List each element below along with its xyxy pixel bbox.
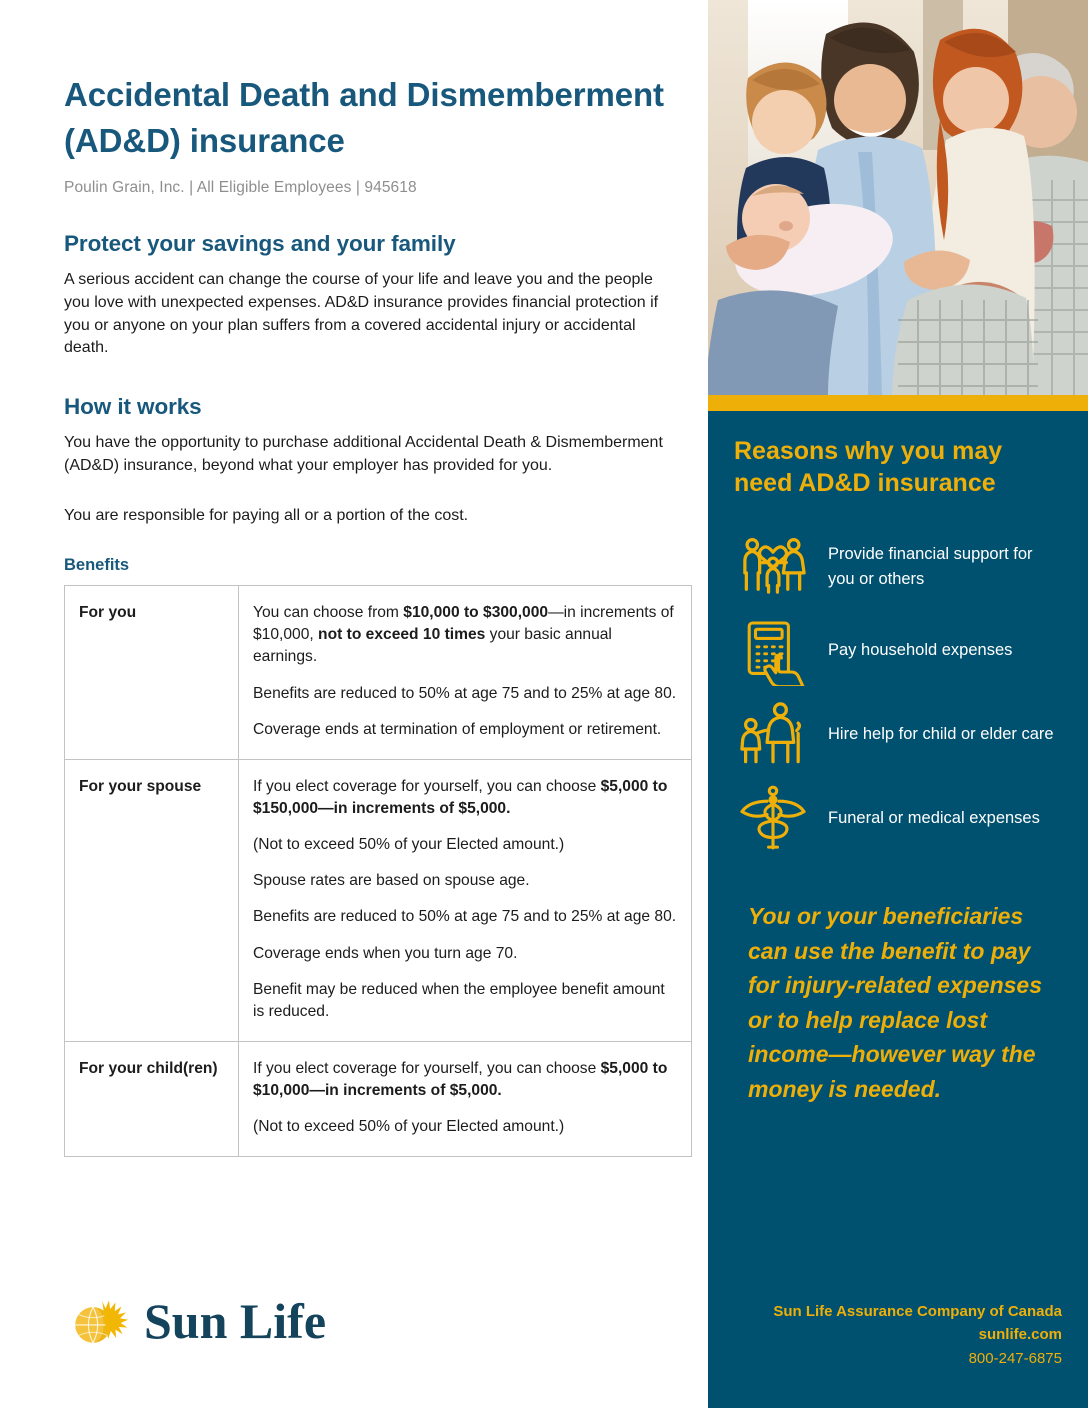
family-photo-illustration [708, 0, 1088, 395]
benefit-row-label: For you [65, 586, 239, 760]
reason-label: Funeral or medical expenses [828, 806, 1040, 831]
family-photo [708, 0, 1088, 395]
child-elder-care-icon [734, 697, 812, 773]
sun-life-wordmark: Sun Life [144, 1296, 326, 1346]
benefit-paragraph: If you elect coverage for yourself, you … [253, 1058, 677, 1102]
reason-item: Hire help for child or elder care [734, 697, 1062, 773]
reason-item: Provide financial support for you or oth… [734, 529, 1062, 605]
sun-life-logo: Sun Life [64, 1288, 326, 1354]
benefit-paragraph: Benefits are reduced to 50% at age 75 an… [253, 906, 677, 928]
table-row: For your child(ren)If you elect coverage… [65, 1041, 692, 1156]
sidebar-footer: Sun Life Assurance Company of Canada sun… [708, 1300, 1062, 1370]
document-page: Accidental Death and Dismemberment (AD&D… [0, 0, 1088, 1408]
gold-divider-bar [708, 395, 1088, 411]
reason-label: Hire help for child or elder care [828, 722, 1054, 747]
benefit-paragraph: If you elect coverage for yourself, you … [253, 776, 677, 820]
sidebar-panel: Reasons why you may need AD&D insurance … [708, 0, 1088, 1408]
benefit-paragraph: Benefits are reduced to 50% at age 75 an… [253, 683, 677, 705]
how-it-works-paragraph-1: You have the opportunity to purchase add… [64, 432, 676, 477]
benefits-table: For youYou can choose from $10,000 to $3… [64, 585, 692, 1157]
reasons-list: Provide financial support for you or oth… [734, 529, 1062, 857]
document-subtitle: Poulin Grain, Inc. | All Eligible Employ… [64, 179, 680, 197]
benefit-paragraph: Benefit may be reduced when the employee… [253, 979, 677, 1023]
benefit-row-label: For your child(ren) [65, 1041, 239, 1156]
benefit-row-detail: You can choose from $10,000 to $300,000—… [239, 586, 692, 760]
footer-company: Sun Life Assurance Company of Canada [708, 1300, 1062, 1323]
caduceus-medical-icon [734, 781, 812, 857]
benefits-heading: Benefits [64, 556, 680, 575]
main-content-column: Accidental Death and Dismemberment (AD&D… [0, 0, 708, 1408]
benefit-paragraph: Coverage ends at termination of employme… [253, 719, 677, 741]
benefit-paragraph: You can choose from $10,000 to $300,000—… [253, 602, 677, 668]
calculator-hand-icon [734, 613, 812, 689]
footer-phone[interactable]: 800-247-6875 [708, 1347, 1062, 1370]
section-heading-protect: Protect your savings and your family [64, 231, 680, 257]
family-heart-icon [734, 529, 812, 605]
footer-website[interactable]: sunlife.com [708, 1323, 1062, 1346]
reason-label: Pay household expenses [828, 638, 1012, 663]
sidebar-body: Reasons why you may need AD&D insurance … [708, 411, 1088, 1106]
table-row: For your spouseIf you elect coverage for… [65, 759, 692, 1041]
benefit-paragraph: Spouse rates are based on spouse age. [253, 870, 677, 892]
protect-paragraph: A serious accident can change the course… [64, 269, 676, 360]
how-it-works-paragraph-2: You are responsible for paying all or a … [64, 505, 676, 528]
sidebar-title: Reasons why you may need AD&D insurance [734, 435, 1062, 499]
benefit-paragraph: Coverage ends when you turn age 70. [253, 943, 677, 965]
benefit-row-label: For your spouse [65, 759, 239, 1041]
benefit-row-detail: If you elect coverage for yourself, you … [239, 759, 692, 1041]
page-title: Accidental Death and Dismemberment (AD&D… [64, 72, 680, 163]
reason-item: Pay household expenses [734, 613, 1062, 689]
reason-item: Funeral or medical expenses [734, 781, 1062, 857]
table-row: For youYou can choose from $10,000 to $3… [65, 586, 692, 760]
reason-label: Provide financial support for you or oth… [828, 542, 1062, 592]
section-heading-how-it-works: How it works [64, 394, 680, 420]
benefit-row-detail: If you elect coverage for yourself, you … [239, 1041, 692, 1156]
benefit-paragraph: (Not to exceed 50% of your Elected amoun… [253, 1116, 677, 1138]
sidebar-pull-quote: You or your beneficiaries can use the be… [748, 899, 1062, 1106]
sun-globe-icon [64, 1288, 130, 1354]
benefit-paragraph: (Not to exceed 50% of your Elected amoun… [253, 834, 677, 856]
